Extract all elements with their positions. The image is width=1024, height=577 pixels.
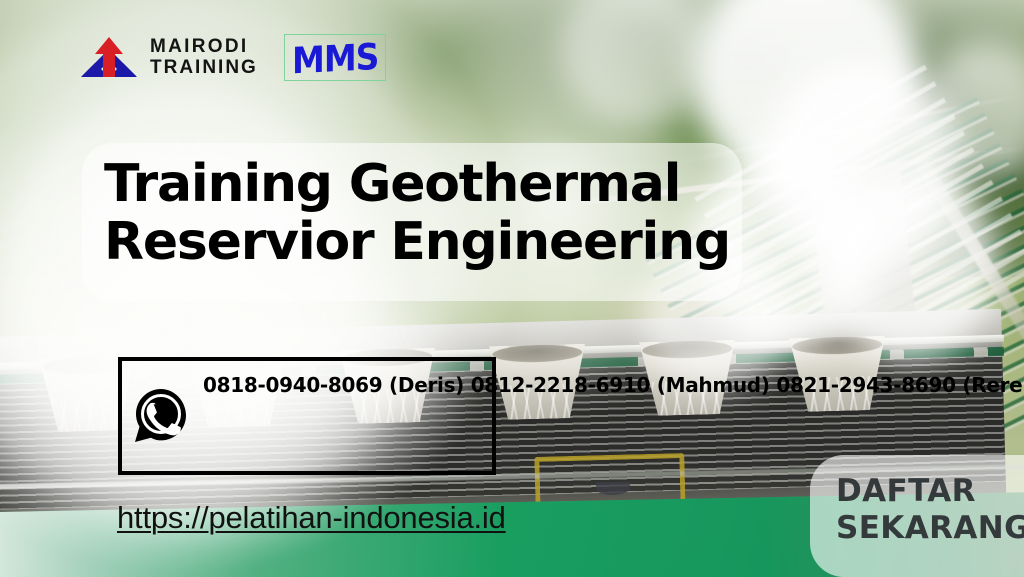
website-url[interactable]: https://pelatihan-indonesia.id bbox=[117, 500, 506, 536]
mairodi-arrow-logo-icon bbox=[80, 35, 138, 80]
logo-row: MAIRODI TRAINING MMS bbox=[80, 34, 386, 81]
mairodi-wordmark-line2: TRAINING bbox=[150, 58, 258, 79]
mairodi-wordmark-line1: MAIRODI bbox=[150, 37, 258, 58]
steam-plume bbox=[820, 170, 1000, 360]
mms-wordmark: MMS bbox=[292, 38, 378, 79]
promo-poster: MAIRODI TRAINING MMS Training Geothermal… bbox=[0, 0, 1024, 577]
contact-phone-numbers[interactable]: 0818-0940-8069 (Deris) 0812-2218-6910 (M… bbox=[203, 370, 1024, 400]
mms-partner-logo: MMS bbox=[284, 34, 386, 81]
whatsapp-icon[interactable] bbox=[133, 387, 189, 443]
page-title: Training Geothermal Reservior Engineerin… bbox=[104, 155, 804, 271]
mairodi-wordmark: MAIRODI TRAINING bbox=[150, 37, 258, 78]
register-now-label[interactable]: DAFTAR SEKARANG bbox=[836, 473, 1024, 546]
mairodi-training-logo: MAIRODI TRAINING bbox=[80, 35, 258, 80]
